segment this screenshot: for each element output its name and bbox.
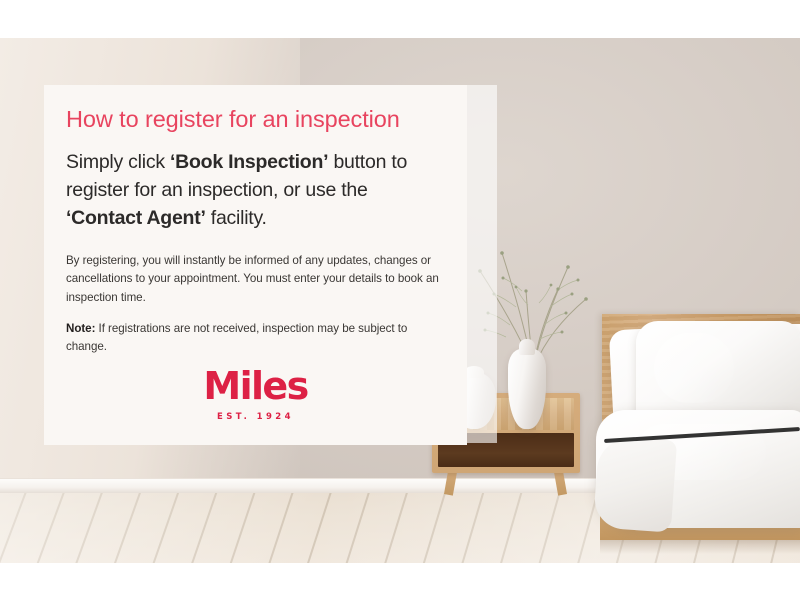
- note-label: Note:: [66, 322, 95, 335]
- book-inspection-emphasis: ‘Book Inspection’: [170, 151, 328, 173]
- inspection-info-card: How to register for an inspection Simply…: [44, 85, 467, 445]
- letterbox-band-bottom: [0, 563, 800, 600]
- lead-text-part-3: facility.: [206, 207, 267, 229]
- duvet-drape: [593, 435, 677, 532]
- logo-wordmark: Miles: [44, 367, 467, 405]
- lead-text-part-1: Simply click: [66, 151, 170, 173]
- miles-logo: Miles EST. 1924: [44, 367, 467, 422]
- contact-agent-emphasis: ‘Contact Agent’: [66, 207, 206, 229]
- screenshot-canvas: How to register for an inspection Simply…: [0, 0, 800, 600]
- nightstand-leg-left: [444, 470, 457, 495]
- logo-established-text: EST. 1924: [44, 412, 467, 422]
- page-title: How to register for an inspection: [66, 105, 439, 133]
- registration-info-paragraph: By registering, you will instantly be in…: [66, 252, 439, 307]
- pillow-highlight: [654, 333, 734, 403]
- lead-paragraph: Simply click ‘Book Inspection’ button to…: [66, 149, 439, 232]
- nightstand-leg-right: [554, 470, 567, 495]
- letterbox-band-top: [0, 0, 800, 38]
- note-paragraph: Note: If registrations are not received,…: [66, 320, 439, 356]
- note-text: If registrations are not received, inspe…: [66, 322, 407, 353]
- bed-base-shadow: [600, 538, 800, 554]
- tall-vase: [508, 349, 546, 429]
